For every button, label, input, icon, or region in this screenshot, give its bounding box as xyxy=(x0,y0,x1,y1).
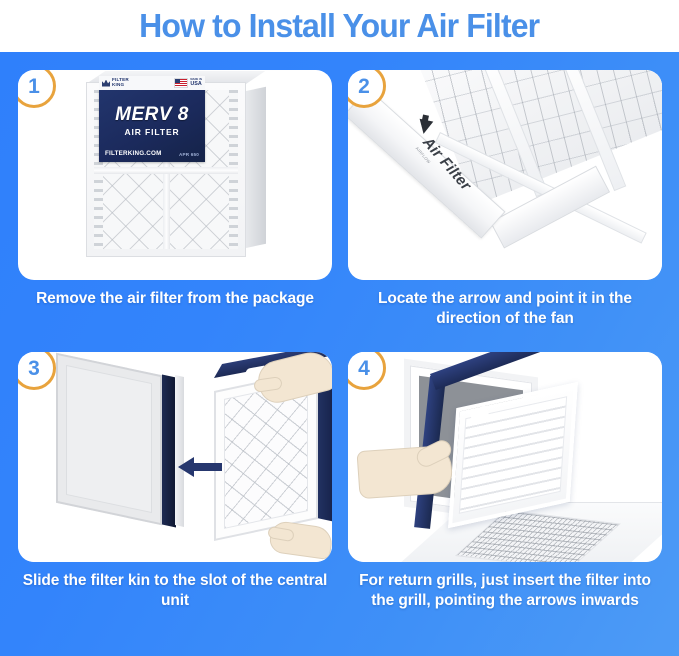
country-text: USA xyxy=(190,81,201,87)
step-card-1: 1 xyxy=(18,70,338,309)
step-3-caption: Slide the filter kin to the slot of the … xyxy=(18,571,332,612)
infographic-root: How to Install Your Air Filter 1 xyxy=(0,0,679,656)
step-1-number: 1 xyxy=(28,76,40,97)
step-3-number: 3 xyxy=(28,358,40,379)
step-4-number: 4 xyxy=(358,358,370,379)
steps-grid: 1 xyxy=(0,52,679,656)
central-unit-slot xyxy=(56,353,162,526)
step-2-image-card: 2 Air Filter AIRFLOW xyxy=(348,70,662,280)
merv-rating: MERV 8 xyxy=(99,104,205,126)
step-1-artwork: FILTER KING MADE IN USA xyxy=(18,70,332,280)
crown-icon xyxy=(102,80,110,87)
step-2-artwork: Air Filter AIRFLOW xyxy=(348,70,662,280)
page-title: How to Install Your Air Filter xyxy=(139,7,539,45)
brand-website: FILTERKING.COM xyxy=(105,150,162,157)
air-filter-product-icon: FILTER KING MADE IN USA xyxy=(86,82,266,262)
slot-dark-edge xyxy=(162,375,176,528)
us-flag-icon xyxy=(174,78,188,88)
apr-rating: APR 650 xyxy=(179,152,199,157)
step-2-number: 2 xyxy=(358,76,370,97)
brand-line-2: KING xyxy=(112,82,124,87)
step-card-2: 2 Air Filter AIRFLOW Locat xyxy=(348,70,668,330)
step-4-caption: For return grills, just insert the filte… xyxy=(348,571,662,612)
step-1-image-card: 1 xyxy=(18,70,332,280)
header: How to Install Your Air Filter xyxy=(0,0,679,52)
label-subtitle: AIR FILTER xyxy=(99,127,205,137)
hand-lower xyxy=(268,520,332,560)
filter-label-header: FILTER KING MADE IN USA xyxy=(99,76,205,90)
step-card-3: 3 xyxy=(18,352,338,612)
filter-king-logo: FILTER KING xyxy=(102,78,129,88)
filter-label: FILTER KING MADE IN USA xyxy=(99,90,205,162)
step-1-caption: Remove the air filter from the package xyxy=(18,289,332,309)
step-3-artwork xyxy=(18,352,332,562)
step-card-4: 4 For return xyxy=(348,352,668,612)
filter-label-footer: FILTERKING.COM APR 650 xyxy=(105,150,199,157)
step-4-artwork xyxy=(348,352,662,562)
made-in-usa-mark: MADE IN USA xyxy=(174,78,202,88)
slot-light-edge xyxy=(175,375,184,527)
insert-direction-arrow-icon xyxy=(178,456,222,478)
step-4-image-card: 4 xyxy=(348,352,662,562)
step-3-image-card: 3 xyxy=(18,352,332,562)
step-2-caption: Locate the arrow and point it in the dir… xyxy=(348,289,662,330)
